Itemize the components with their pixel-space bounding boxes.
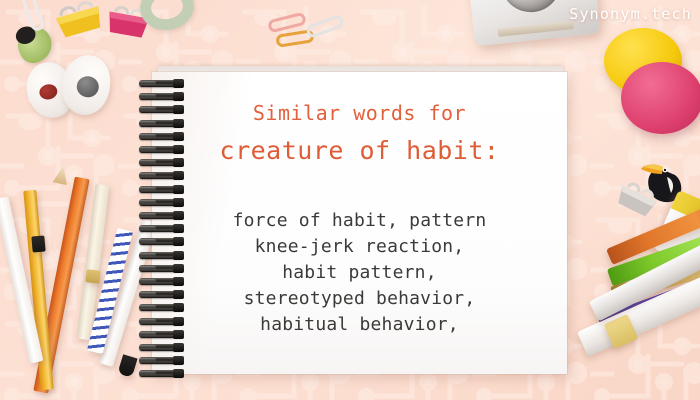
synonym-line: habitual behavior,	[233, 312, 487, 338]
synonym-list: force of habit, patternknee-jerk reactio…	[233, 208, 487, 338]
card-content: Similar words for creature of habit: for…	[152, 72, 567, 374]
synonym-line: stereotyped behavior,	[233, 286, 487, 312]
pen-cream-band	[85, 269, 100, 284]
synonym-line: knee-jerk reaction,	[233, 234, 487, 260]
headword: creature of habit:	[220, 132, 500, 170]
pencil-yellow-ferrule	[31, 235, 45, 252]
synonym-line: force of habit, pattern	[233, 208, 487, 234]
macaron-pink	[621, 62, 700, 134]
synonym-line: habit pattern,	[233, 260, 487, 286]
site-watermark: Synonym.tech	[569, 5, 692, 23]
heading-prefix: Similar words for	[253, 98, 466, 128]
desk-scene: Similar words for creature of habit: for…	[0, 0, 700, 400]
